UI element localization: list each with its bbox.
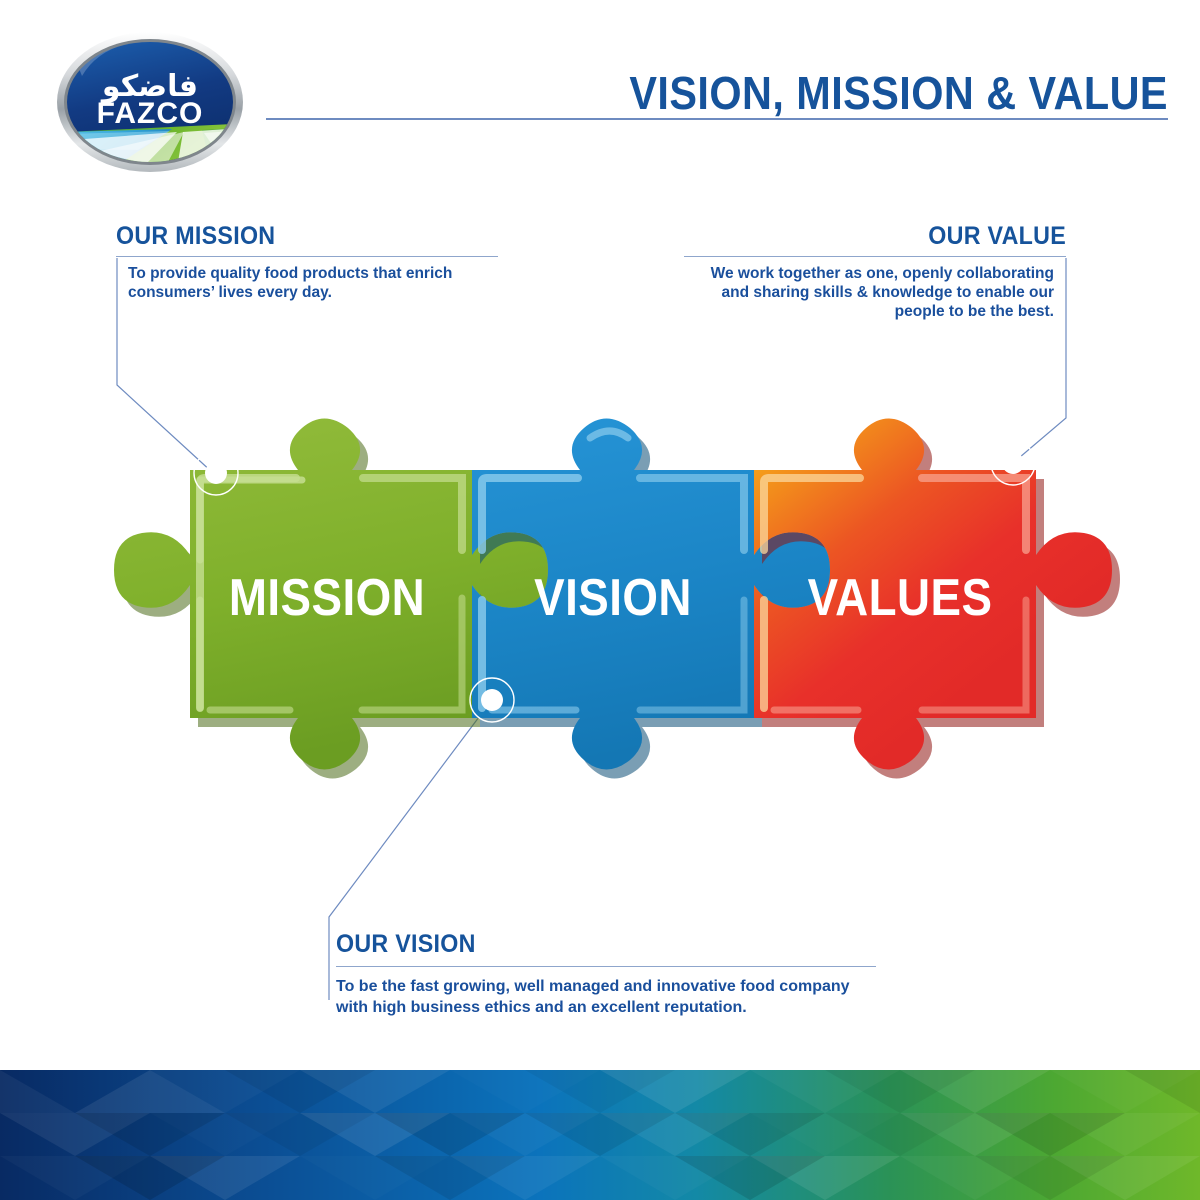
callout-vision-body: To be the fast growing, well managed and… bbox=[336, 976, 856, 1018]
callout-vision-divider bbox=[336, 966, 876, 967]
puzzle-label-vision: VISION bbox=[534, 569, 692, 626]
footer-band bbox=[0, 1070, 1200, 1200]
puzzle-label-values: VALUES bbox=[808, 569, 993, 626]
callout-mission-body: To provide quality food products that en… bbox=[128, 264, 480, 302]
page-title: VISION, MISSION & VALUE bbox=[117, 66, 1168, 120]
callout-vision: OUR VISION To be the fast growing, well … bbox=[336, 930, 876, 959]
callout-value-divider bbox=[684, 256, 1066, 257]
puzzle-label-mission: MISSION bbox=[229, 569, 425, 626]
infographic-canvas: فاضكو FAZCO VISION, MISSION & VALUE OUR … bbox=[0, 0, 1200, 1200]
callout-vision-heading: OUR VISION bbox=[336, 930, 838, 959]
callout-mission-divider bbox=[116, 256, 498, 257]
callout-value-heading: OUR VALUE bbox=[694, 222, 1066, 251]
puzzle-piece-values[interactable]: VALUES bbox=[754, 419, 1120, 779]
callout-value: OUR VALUE We work together as one, openl… bbox=[666, 222, 1066, 251]
puzzle-graphic: MISSION VISION bbox=[80, 370, 1140, 800]
title-divider bbox=[266, 118, 1168, 120]
callout-mission-heading: OUR MISSION bbox=[116, 222, 488, 251]
callout-mission: OUR MISSION To provide quality food prod… bbox=[116, 222, 516, 251]
callout-value-body: We work together as one, openly collabor… bbox=[682, 264, 1054, 321]
